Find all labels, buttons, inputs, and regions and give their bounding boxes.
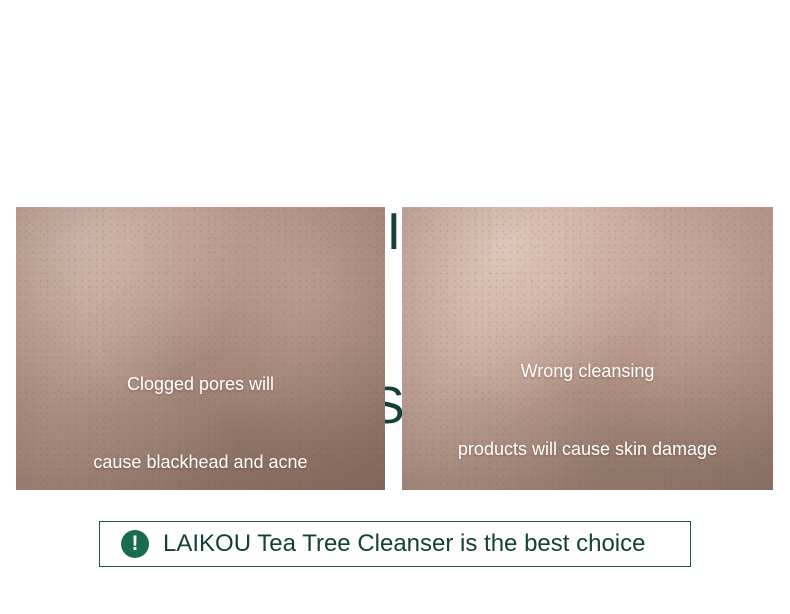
comparison-panels: Clogged pores will cause blackhead and a… [16, 207, 773, 490]
panel-wrong-cleansing: Wrong cleansing products will cause skin… [402, 207, 773, 490]
panel-left-caption-line-1: Clogged pores will [16, 371, 385, 397]
exclamation-glyph: ! [132, 533, 139, 554]
product-callout-banner: ! LAIKOU Tea Tree Cleanser is the best c… [99, 521, 691, 567]
exclamation-circle-icon: ! [121, 530, 149, 558]
panel-right-caption-line-2: products will cause skin damage [402, 436, 773, 462]
panel-right-caption-line-1: Wrong cleansing [402, 358, 773, 384]
panel-right-caption: Wrong cleansing products will cause skin… [402, 306, 773, 490]
infographic-page: CLEANSING IS THE FIRST STEP IN SKINCARE … [0, 0, 790, 614]
product-callout-text: LAIKOU Tea Tree Cleanser is the best cho… [163, 530, 645, 558]
panel-left-caption: Clogged pores will cause blackhead and a… [16, 319, 385, 490]
panel-left-caption-line-2: cause blackhead and acne [16, 449, 385, 475]
panel-clogged-pores: Clogged pores will cause blackhead and a… [16, 207, 385, 490]
